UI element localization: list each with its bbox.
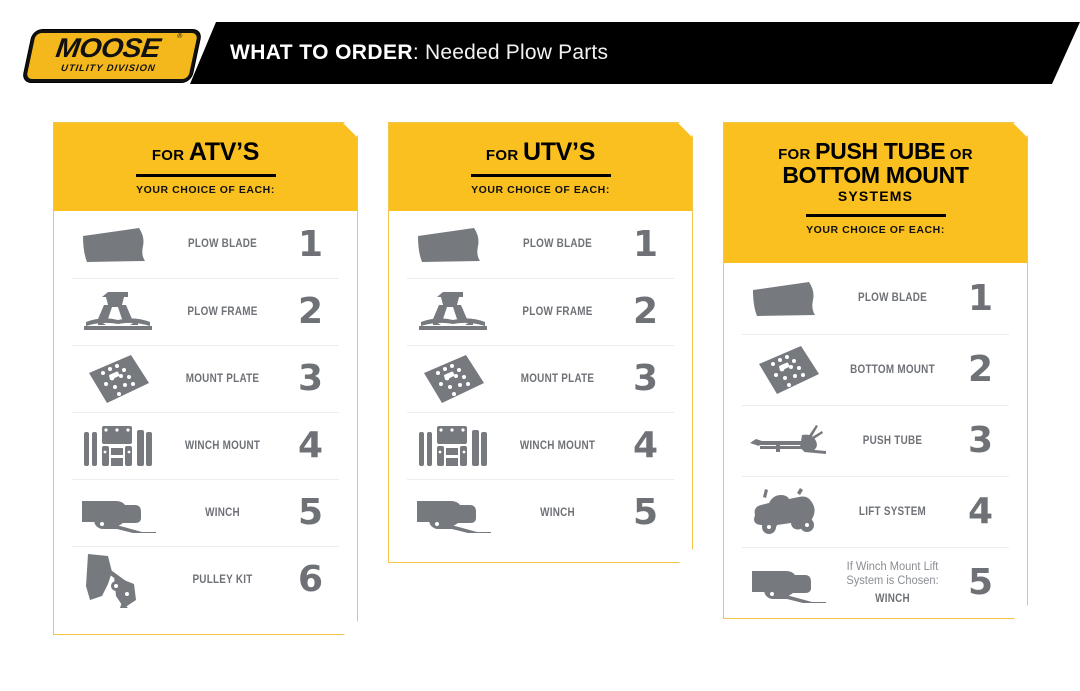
list-item[interactable]: PLOW FRAME 2 <box>407 278 674 345</box>
list-item-label-text: WINCH <box>875 593 910 605</box>
lift-system-icon <box>742 487 834 537</box>
card-utv-header: FOR UTV’S YOUR CHOICE OF EACH: <box>389 123 692 211</box>
card-push-tube-header: FOR PUSH TUBE OR BOTTOM MOUNT SYSTEMS YO… <box>724 123 1027 263</box>
plow-blade-icon <box>407 226 499 264</box>
card-push-tube-title: FOR PUSH TUBE OR BOTTOM MOUNT SYSTEMS <box>778 139 973 204</box>
moose-utility-division-logo: MOOSE UTILITY DIVISION ® <box>20 26 196 82</box>
list-item[interactable]: WINCH 5 <box>72 479 339 546</box>
list-item-number: 4 <box>616 428 674 464</box>
list-item-number: 1 <box>616 227 674 263</box>
list-item-number: 2 <box>951 352 1009 388</box>
list-item-number: 4 <box>281 428 339 464</box>
list-item-label: WINCH <box>172 506 273 520</box>
plow-frame-icon <box>72 290 164 334</box>
card-atv-title: FOR ATV’S <box>152 139 259 166</box>
list-item-number: 5 <box>951 565 1009 601</box>
logo-tagline: UTILITY DIVISION <box>60 64 156 74</box>
list-item-note: If Winch Mount Lift System is Chosen: <box>836 560 949 589</box>
card-utv-title-main: UTV’S <box>523 138 595 166</box>
plow-frame-icon <box>407 290 499 334</box>
list-item[interactable]: PUSH TUBE 3 <box>742 405 1009 476</box>
card-atv-title-for: FOR <box>152 147 185 164</box>
list-item-label: MOUNT PLATE <box>507 372 608 386</box>
list-item-number: 5 <box>616 495 674 531</box>
list-item-number: 5 <box>281 495 339 531</box>
list-item[interactable]: PLOW BLADE 1 <box>742 263 1009 334</box>
card-atv-subtitle: YOUR CHOICE OF EACH: <box>136 184 275 196</box>
list-item-label: PUSH TUBE <box>842 434 943 448</box>
list-item[interactable]: If Winch Mount Lift System is Chosen: WI… <box>742 547 1009 618</box>
list-item[interactable]: PLOW BLADE 1 <box>407 211 674 278</box>
list-item-number: 2 <box>616 294 674 330</box>
card-utv-title-for: FOR <box>486 147 519 164</box>
list-item[interactable]: PLOW BLADE 1 <box>72 211 339 278</box>
card-push-tube-title-main2: BOTTOM MOUNT <box>778 163 973 187</box>
plow-blade-icon <box>742 280 834 318</box>
logo-text-group: MOOSE UTILITY DIVISION <box>20 26 196 82</box>
list-item-label: PLOW BLADE <box>842 291 943 305</box>
registered-trademark-icon: ® <box>176 33 182 40</box>
header-banner: WHAT TO ORDER: Needed Plow Parts <box>190 22 1080 84</box>
list-item-label: BOTTOM MOUNT <box>842 363 943 377</box>
card-push-tube-subtitle: YOUR CHOICE OF EACH: <box>806 224 945 236</box>
card-utv-rows: PLOW BLADE 1 PLOW FRAME 2 <box>389 211 692 546</box>
logo-wordmark: MOOSE <box>54 36 162 62</box>
card-push-tube: FOR PUSH TUBE OR BOTTOM MOUNT SYSTEMS YO… <box>723 122 1028 619</box>
page-title: WHAT TO ORDER: Needed Plow Parts <box>230 41 608 65</box>
list-item-number: 4 <box>951 494 1009 530</box>
card-utv-subtitle: YOUR CHOICE OF EACH: <box>471 184 610 196</box>
winch-icon <box>407 493 499 533</box>
list-item-number: 1 <box>951 281 1009 317</box>
divider <box>806 214 946 217</box>
list-item-label: If Winch Mount Lift System is Chosen: WI… <box>842 560 943 606</box>
list-item-label: PLOW FRAME <box>507 305 608 319</box>
card-atv-title-main: ATV’S <box>189 138 259 166</box>
plow-blade-icon <box>72 226 164 264</box>
list-item-number: 3 <box>281 361 339 397</box>
list-item[interactable]: WINCH MOUNT 4 <box>407 412 674 479</box>
winch-mount-icon <box>407 422 499 470</box>
card-atv-header: FOR ATV’S YOUR CHOICE OF EACH: <box>54 123 357 211</box>
card-push-tube-rows: PLOW BLADE 1 BOTTOM M <box>724 263 1027 618</box>
mount-plate-icon <box>72 353 164 405</box>
list-item[interactable]: LIFT SYSTEM 4 <box>742 476 1009 547</box>
list-item[interactable]: PULLEY KIT 6 <box>72 546 339 613</box>
list-item[interactable]: MOUNT PLATE 3 <box>407 345 674 412</box>
list-item-label: WINCH MOUNT <box>172 439 273 453</box>
list-item-number: 6 <box>281 562 339 598</box>
pulley-kit-icon <box>72 550 164 610</box>
card-atv: FOR ATV’S YOUR CHOICE OF EACH: PLOW BLAD… <box>53 122 358 635</box>
card-push-tube-title-for: FOR <box>778 146 811 163</box>
list-item-label: LIFT SYSTEM <box>842 505 943 519</box>
card-utv-title: FOR UTV’S <box>486 139 595 166</box>
winch-mount-icon <box>72 422 164 470</box>
divider <box>136 174 276 177</box>
winch-icon <box>742 563 834 603</box>
page-title-light: : Needed Plow Parts <box>413 41 608 64</box>
list-item-label: PLOW BLADE <box>507 237 608 251</box>
list-item[interactable]: BOTTOM MOUNT 2 <box>742 334 1009 405</box>
divider <box>471 174 611 177</box>
list-item-label: PLOW FRAME <box>172 305 273 319</box>
card-push-tube-title-or: OR <box>950 146 973 163</box>
card-push-tube-title-main: PUSH TUBE <box>815 138 945 164</box>
list-item-number: 3 <box>616 361 674 397</box>
list-item[interactable]: WINCH MOUNT 4 <box>72 412 339 479</box>
list-item-label: MOUNT PLATE <box>172 372 273 386</box>
list-item[interactable]: PLOW FRAME 2 <box>72 278 339 345</box>
list-item-number: 3 <box>951 423 1009 459</box>
list-item[interactable]: WINCH 5 <box>407 479 674 546</box>
list-item-label: WINCH <box>507 506 608 520</box>
mount-plate-icon <box>407 353 499 405</box>
winch-icon <box>72 493 164 533</box>
list-item-label: WINCH MOUNT <box>507 439 608 453</box>
page-title-bold: WHAT TO ORDER <box>230 41 413 64</box>
bottom-mount-icon <box>742 344 834 396</box>
list-item-label: PLOW BLADE <box>172 237 273 251</box>
page-header: WHAT TO ORDER: Needed Plow Parts MOOSE U… <box>0 22 1080 84</box>
list-item[interactable]: MOUNT PLATE 3 <box>72 345 339 412</box>
list-item-number: 2 <box>281 294 339 330</box>
card-atv-rows: PLOW BLADE 1 PLOW FRAME 2 <box>54 211 357 613</box>
list-item-label: PULLEY KIT <box>172 573 273 587</box>
list-item-number: 1 <box>281 227 339 263</box>
push-tube-icon <box>742 421 834 461</box>
card-push-tube-title-systems: SYSTEMS <box>778 189 973 204</box>
card-utv: FOR UTV’S YOUR CHOICE OF EACH: PLOW BLAD… <box>388 122 693 563</box>
